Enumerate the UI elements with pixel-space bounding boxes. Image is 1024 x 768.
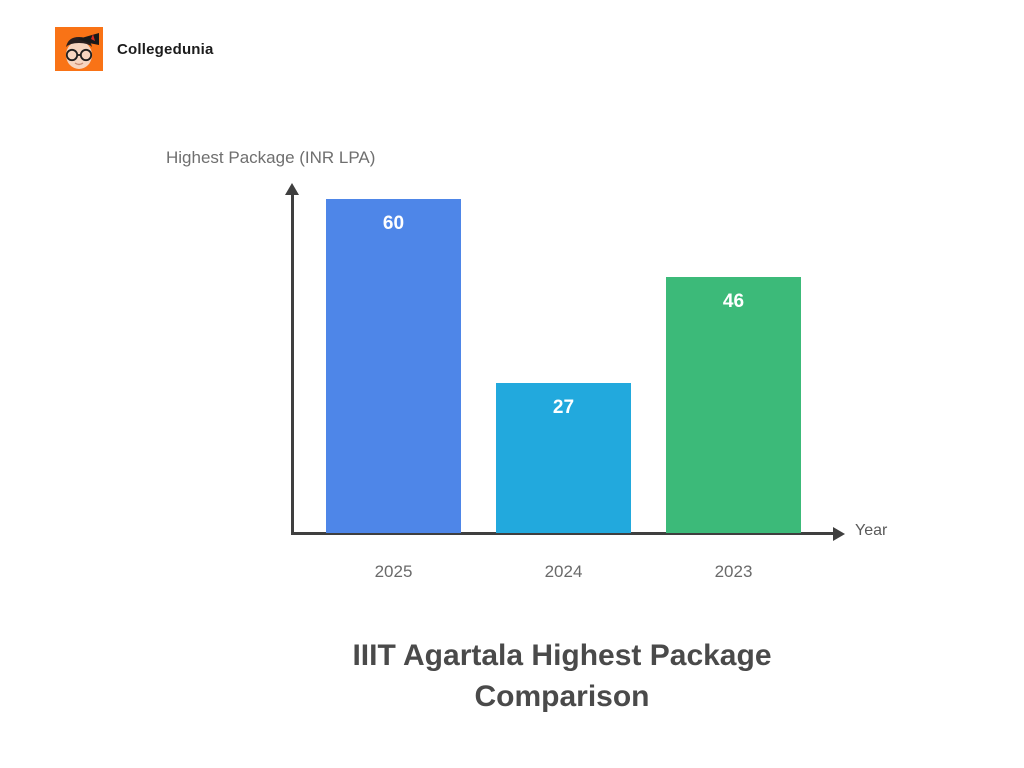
x-tick-label-2023: 2023: [666, 562, 801, 582]
bar-value-2023: 46: [666, 291, 801, 313]
x-tick-label-2025: 2025: [326, 562, 461, 582]
y-axis-line: [291, 192, 294, 534]
y-axis-label: Highest Package (INR LPA): [166, 148, 375, 168]
bar-2023[interactable]: 46: [666, 277, 801, 533]
bar-2025[interactable]: 60: [326, 199, 461, 533]
x-axis-arrow-icon: [833, 527, 845, 541]
chart-title: IIIT Agartala Highest Package Comparison: [262, 636, 862, 717]
chart-title-line-1: IIIT Agartala Highest Package: [352, 639, 771, 672]
bar-value-2025: 60: [326, 213, 461, 235]
x-axis-label: Year: [855, 522, 887, 540]
bar-2024[interactable]: 27: [496, 383, 631, 533]
y-axis-arrow-icon: [285, 183, 299, 195]
bar-value-2024: 27: [496, 397, 631, 419]
chart-title-line-2: Comparison: [474, 680, 649, 713]
x-tick-label-2024: 2024: [496, 562, 631, 582]
bar-chart: Highest Package (INR LPA) Year 60 27 46 …: [0, 0, 1024, 768]
